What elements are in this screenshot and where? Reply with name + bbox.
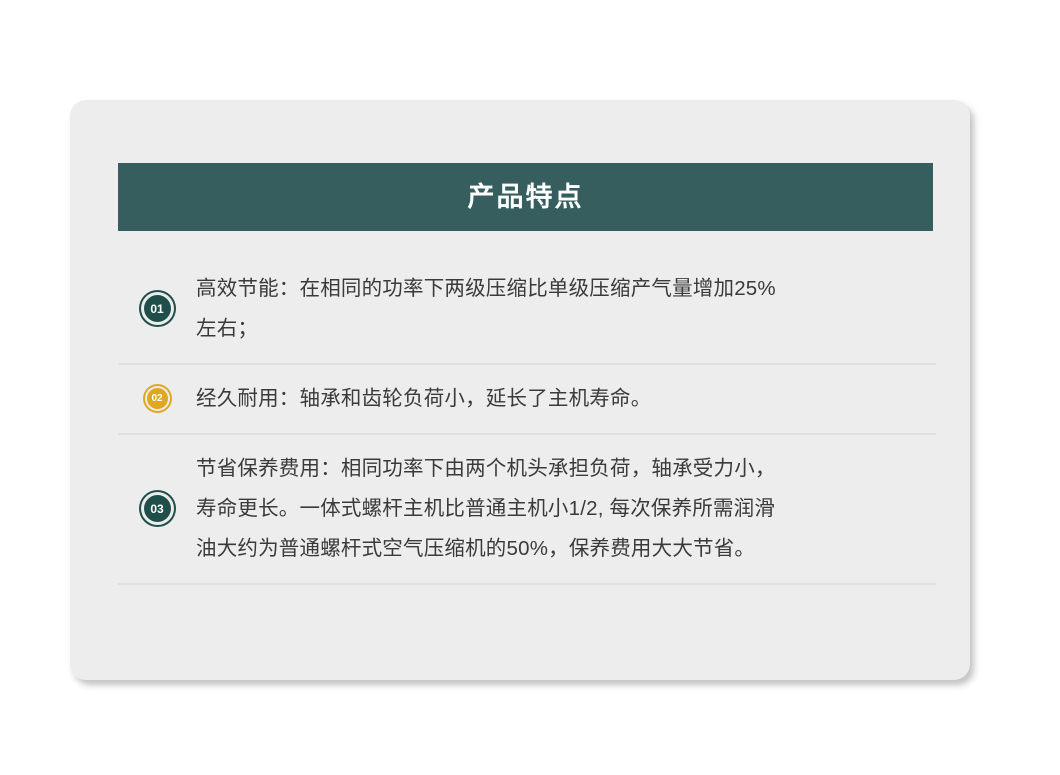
feature-row: 03节省保养费用：相同功率下由两个机头承担负荷，轴承受力小，寿命更长。一体式螺杆… <box>118 435 936 585</box>
feature-list: 01高效节能：在相同的功率下两级压缩比单级压缩产气量增加25%左右；02经久耐用… <box>118 255 936 585</box>
badge-number-label: 03 <box>150 503 163 515</box>
feature-row: 02经久耐用：轴承和齿轮负荷小，延长了主机寿命。 <box>118 365 936 435</box>
feature-badge-cell: 01 <box>118 295 196 322</box>
feature-text: 高效节能：在相同的功率下两级压缩比单级压缩产气量增加25%左右； <box>196 269 936 349</box>
feature-row: 01高效节能：在相同的功率下两级压缩比单级压缩产气量增加25%左右； <box>118 255 936 365</box>
badge-number-label: 02 <box>151 394 162 404</box>
page-title: 产品特点 <box>468 184 584 211</box>
feature-text-line: 经久耐用：轴承和齿轮负荷小，延长了主机寿命。 <box>196 379 932 419</box>
badge-number-label: 01 <box>150 303 163 315</box>
feature-badge-cell: 02 <box>118 388 196 409</box>
feature-text-line: 寿命更长。一体式螺杆主机比普通主机小1/2, 每次保养所需润滑 <box>196 489 932 529</box>
feature-text: 经久耐用：轴承和齿轮负荷小，延长了主机寿命。 <box>196 379 936 419</box>
feature-text-line: 油大约为普通螺杆式空气压缩机的50%，保养费用大大节省。 <box>196 529 932 569</box>
page-root: 产品特点 01高效节能：在相同的功率下两级压缩比单级压缩产气量增加25%左右；0… <box>0 0 1060 775</box>
feature-text-line: 节省保养费用：相同功率下由两个机头承担负荷，轴承受力小， <box>196 449 932 489</box>
feature-text: 节省保养费用：相同功率下由两个机头承担负荷，轴承受力小，寿命更长。一体式螺杆主机… <box>196 449 936 569</box>
product-features-card: 产品特点 01高效节能：在相同的功率下两级压缩比单级压缩产气量增加25%左右；0… <box>70 100 970 680</box>
number-badge-icon: 01 <box>144 295 171 322</box>
feature-text-line: 左右； <box>196 309 932 349</box>
card-header-banner: 产品特点 <box>118 163 933 231</box>
number-badge-icon: 02 <box>147 388 168 409</box>
feature-badge-cell: 03 <box>118 495 196 522</box>
feature-text-line: 高效节能：在相同的功率下两级压缩比单级压缩产气量增加25% <box>196 269 932 309</box>
number-badge-icon: 03 <box>144 495 171 522</box>
